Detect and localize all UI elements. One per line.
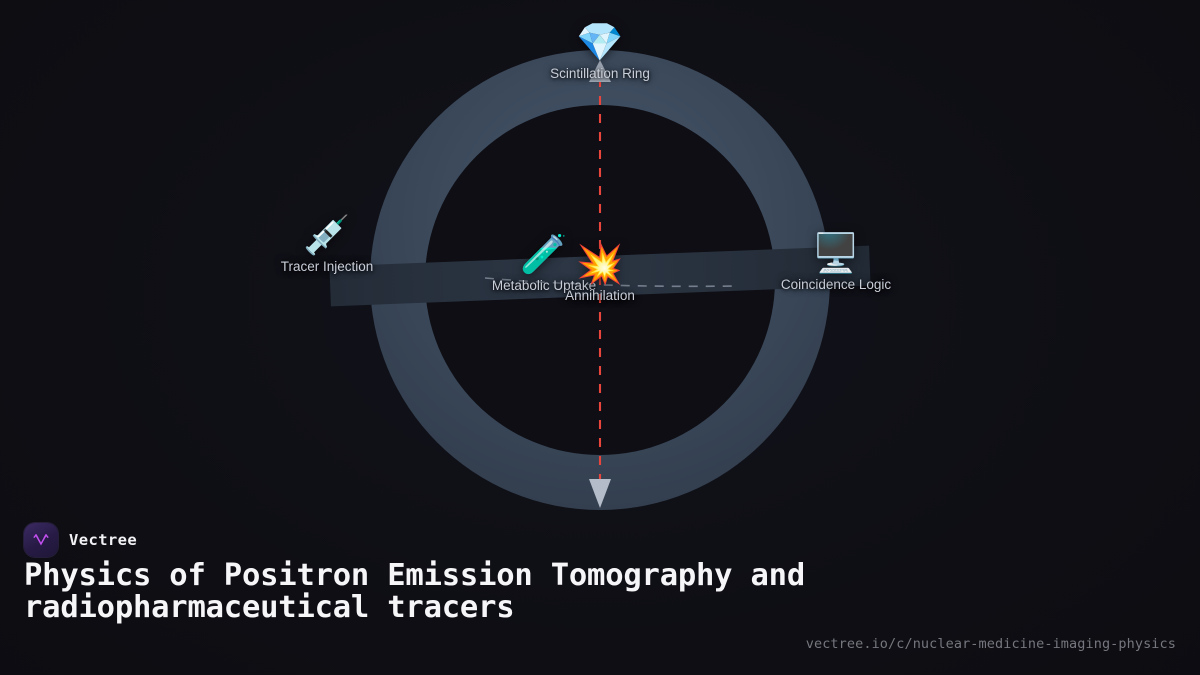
footer: Vectree Physics of Positron Emission Tom… <box>0 510 1200 675</box>
page-title: Physics of Positron Emission Tomography … <box>24 560 854 624</box>
syringe-icon: 💉 <box>303 215 350 257</box>
desktop-computer-icon: 🖥️ <box>812 233 859 275</box>
screenshot-root: 💎 Scintillation Ring 💉 Tracer Injection … <box>0 0 1200 675</box>
node-label-coincidence-logic: Coincidence Logic <box>781 277 891 292</box>
footer-url: vectree.io/c/nuclear-medicine-imaging-ph… <box>806 636 1176 652</box>
node-scintillation-ring[interactable]: 💎 Scintillation Ring <box>550 22 650 81</box>
node-annihilation[interactable]: 💥 Annihilation <box>565 244 635 303</box>
collision-icon: 💥 <box>576 244 623 286</box>
test-tube-icon: 🧪 <box>520 234 567 276</box>
diamond-icon: 💎 <box>576 22 623 64</box>
vectree-logo-icon <box>24 523 58 557</box>
node-label-tracer-injection: Tracer Injection <box>281 259 374 274</box>
node-label-annihilation: Annihilation <box>565 288 635 303</box>
node-tracer-injection[interactable]: 💉 Tracer Injection <box>281 215 374 274</box>
node-label-scintillation-ring: Scintillation Ring <box>550 66 650 81</box>
brand-row[interactable]: Vectree <box>24 523 137 557</box>
brand-name: Vectree <box>69 531 137 549</box>
node-coincidence-logic[interactable]: 🖥️ Coincidence Logic <box>781 233 891 292</box>
